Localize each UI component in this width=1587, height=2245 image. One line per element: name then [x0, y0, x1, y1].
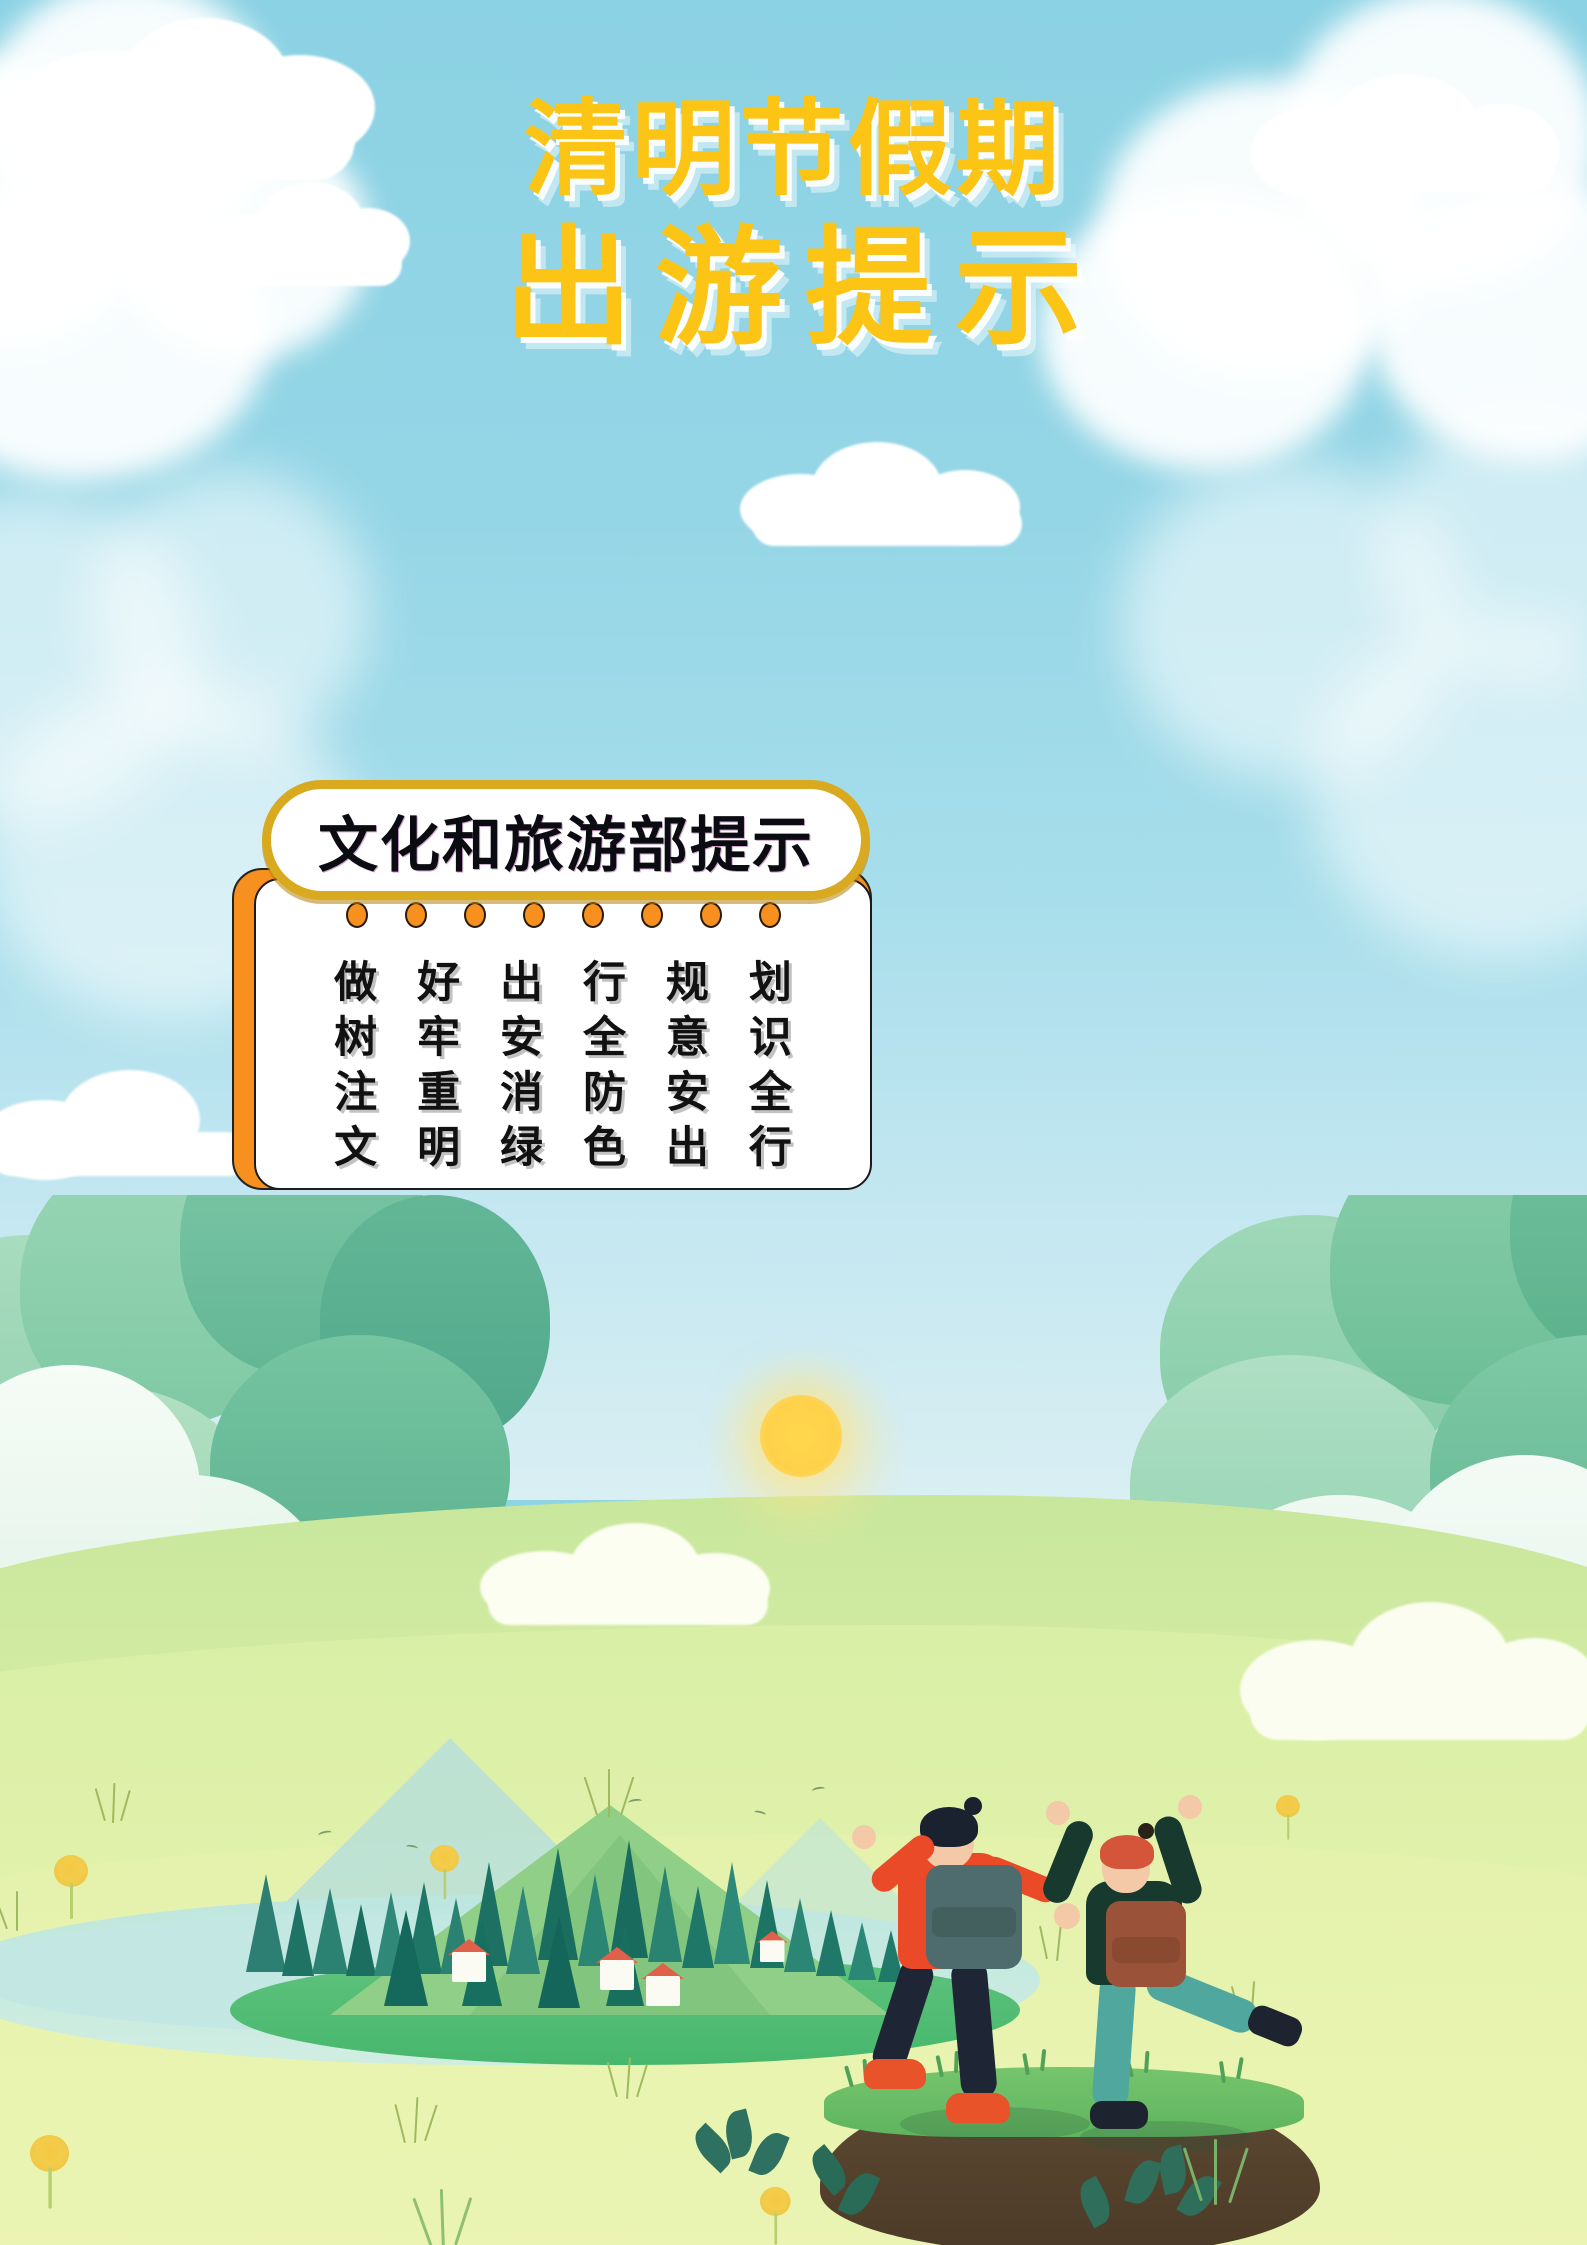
- binder-hole-icon: [346, 902, 368, 928]
- binder-hole-icon: [700, 902, 722, 928]
- advisory-line: 做 好 出 行 规 划: [256, 956, 870, 1011]
- poster-canvas: 清明节假期 出游提示 文化和旅游部提示 做 好 出 行 规 划 树 牢 安 全 …: [0, 0, 1587, 2245]
- hiker-backpack-pocket: [1112, 1937, 1180, 1963]
- hiker-hat: [1100, 1835, 1154, 1869]
- poster-title: 清明节假期 出游提示: [0, 95, 1587, 357]
- title-line-2: 出游提示: [0, 221, 1587, 357]
- hiker-boot-right: [1244, 2002, 1305, 2050]
- sun-icon: [760, 1395, 842, 1477]
- house-wall: [600, 1960, 634, 1990]
- house-wall: [452, 1952, 486, 1982]
- card-binder-holes: [256, 902, 870, 928]
- hiker-hand-right: [1054, 1903, 1080, 1929]
- landscape-illustration: [0, 1195, 1587, 2245]
- hiker-hair-bun: [964, 1797, 982, 1815]
- flower-stem: [444, 1869, 447, 1900]
- flower-stem: [70, 1883, 73, 1919]
- advisory-line: 文 明 绿 色 出 行: [256, 1121, 870, 1176]
- hiker-hair-bun: [1138, 1823, 1154, 1839]
- binder-hole-icon: [523, 902, 545, 928]
- binder-hole-icon: [405, 902, 427, 928]
- ministry-badge-label: 文化和旅游部提示: [318, 797, 814, 884]
- hiker-boot-right: [946, 2093, 1010, 2123]
- hiker-hand-left: [1046, 1801, 1070, 1825]
- hiker-backpack-pocket: [932, 1907, 1016, 1937]
- card-body: 做 好 出 行 规 划 树 牢 安 全 意 识 注 重 消 防 安 全 文 明 …: [254, 878, 872, 1190]
- house-wall: [760, 1940, 784, 1962]
- binder-hole-icon: [641, 902, 663, 928]
- advisory-list: 做 好 出 行 规 划 树 牢 安 全 意 识 注 重 消 防 安 全 文 明 …: [256, 956, 870, 1176]
- advisory-card: 做 好 出 行 规 划 树 牢 安 全 意 识 注 重 消 防 安 全 文 明 …: [232, 868, 872, 1190]
- title-line-1: 清明节假期: [0, 95, 1587, 205]
- hikers-group: [830, 1755, 1390, 2235]
- ministry-badge: 文化和旅游部提示: [262, 780, 870, 900]
- advisory-line: 注 重 消 防 安 全: [256, 1066, 870, 1121]
- hiker-boot-left: [864, 2059, 926, 2089]
- binder-hole-icon: [464, 902, 486, 928]
- hiker-boot-left: [1090, 2101, 1148, 2129]
- binder-hole-icon: [582, 902, 604, 928]
- advisory-line: 树 牢 安 全 意 识: [256, 1011, 870, 1066]
- hiker-hand-right: [1178, 1795, 1202, 1819]
- flower-stem: [48, 2167, 51, 2208]
- house-wall: [646, 1976, 680, 2006]
- flower-stem: [774, 2212, 777, 2244]
- binder-hole-icon: [759, 902, 781, 928]
- hiker-hand-left: [852, 1825, 876, 1849]
